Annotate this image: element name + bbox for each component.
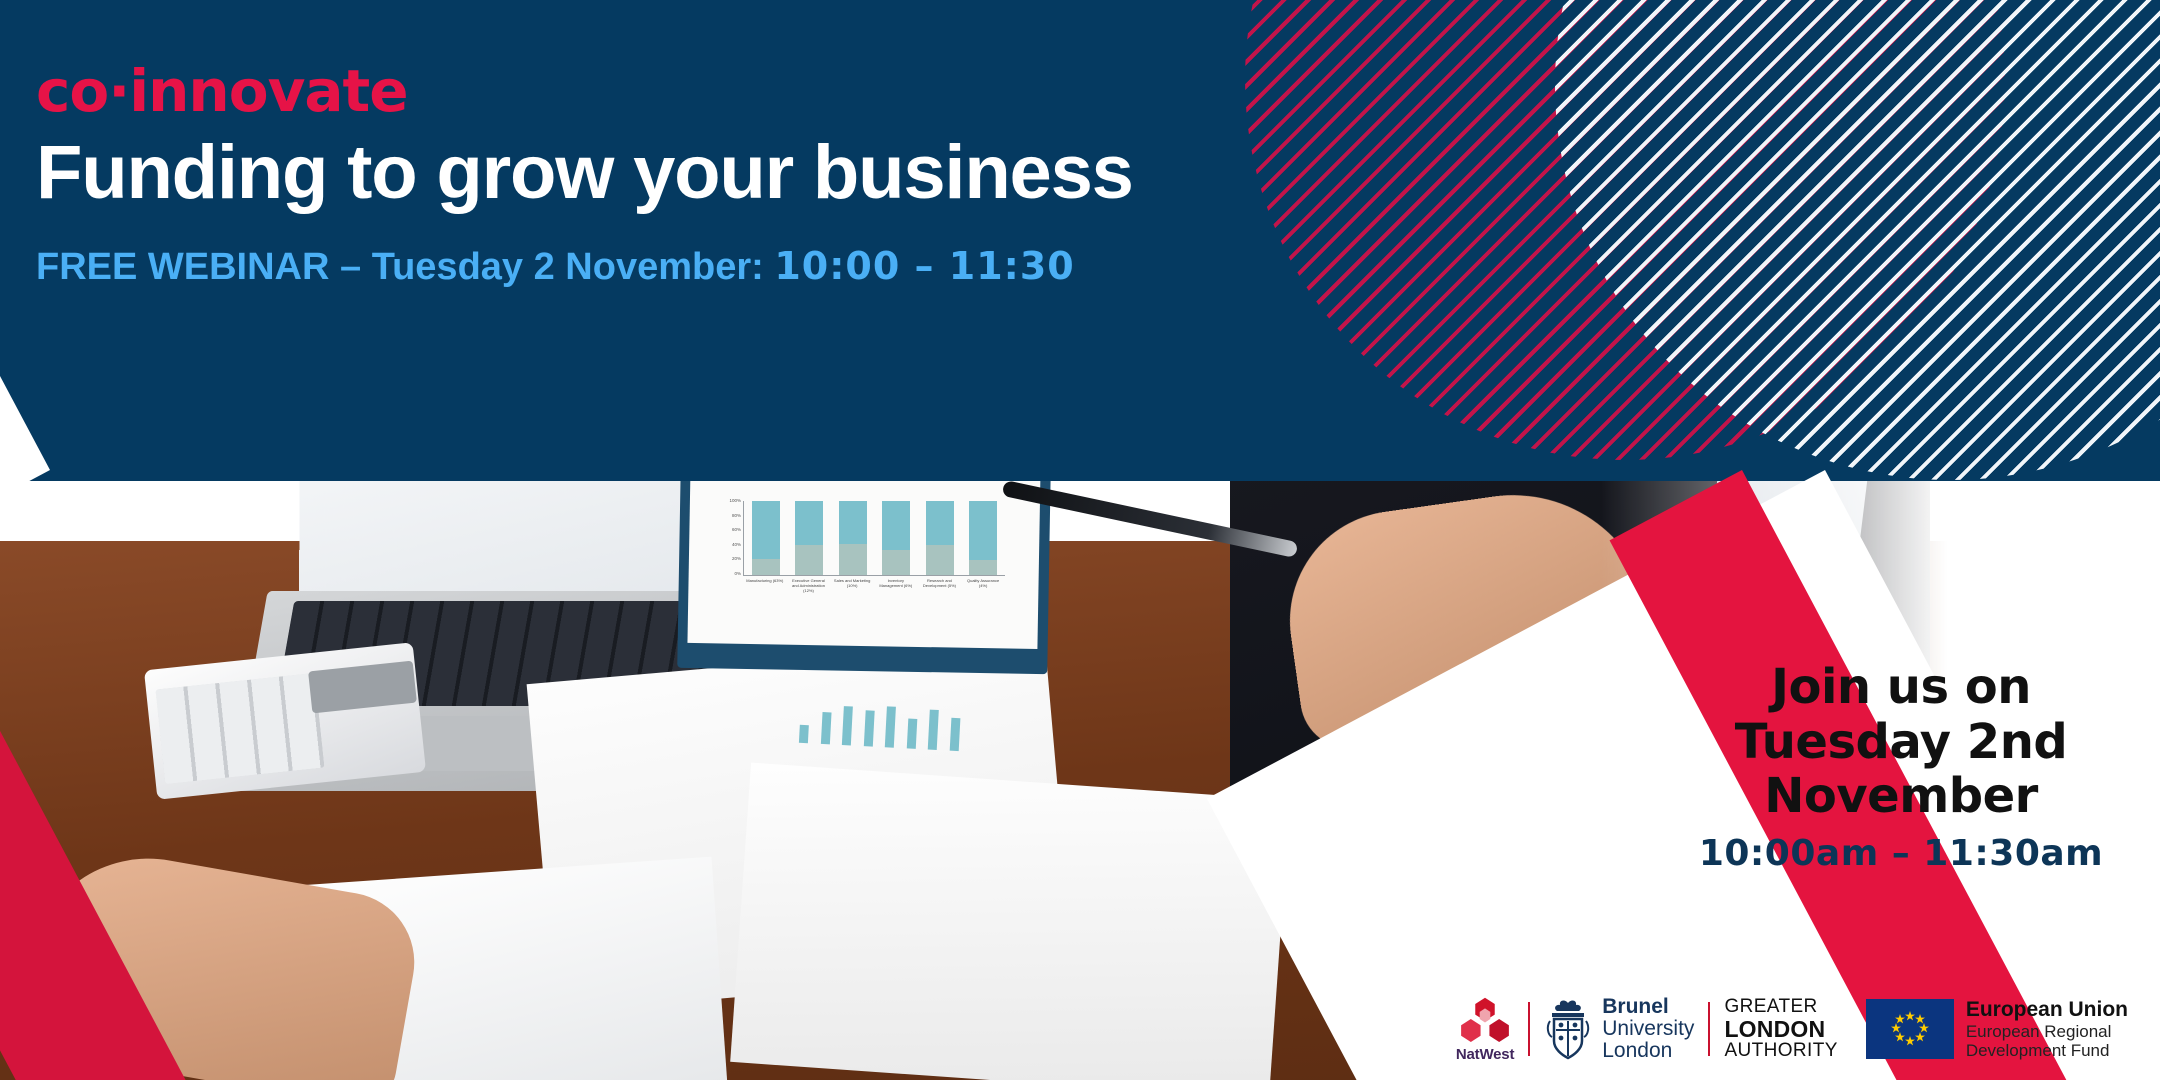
report-chart-bar xyxy=(926,501,954,575)
join-us-heading: Join us on Tuesday 2nd November xyxy=(1666,660,2136,824)
event-info-panel: Join us on Tuesday 2nd November 10:00am … xyxy=(1666,660,2136,874)
paper-chart-bar xyxy=(799,724,809,743)
partner-logo-bar: NatWest Brunel University London xyxy=(1442,986,2142,1072)
natwest-mark-icon xyxy=(1458,996,1512,1042)
gla-name: GREATER LONDON AUTHORITY xyxy=(1724,997,1837,1062)
greater-london-authority-logo: GREATER LONDON AUTHORITY xyxy=(1710,991,1851,1067)
brunel-name: Brunel University London xyxy=(1602,996,1694,1061)
report-chart-bar xyxy=(969,501,997,575)
x-tick: Inventory Management (6%) xyxy=(876,578,916,593)
brunel-line-3: London xyxy=(1602,1040,1694,1062)
report-chart-bar xyxy=(839,501,867,575)
calculator-keypad xyxy=(155,673,324,784)
paper-chart-bar xyxy=(885,706,896,748)
report-chart-plot xyxy=(743,501,1005,576)
report-chart-x-axis: Manufacturing (63%) Executive General an… xyxy=(743,578,1005,593)
natwest-logo: NatWest xyxy=(1442,991,1528,1067)
bar-segment-lower xyxy=(795,545,823,575)
bar-segment-upper xyxy=(926,501,954,545)
natwest-label: NatWest xyxy=(1456,1046,1514,1063)
bar-segment-upper xyxy=(839,501,867,544)
brunel-logo: Brunel University London xyxy=(1530,991,1708,1067)
y-tick: 100% xyxy=(715,498,741,503)
eu-name: European Union European Regional Develop… xyxy=(1966,998,2128,1061)
brunel-line-2: University xyxy=(1602,1018,1694,1040)
gla-line-3: AUTHORITY xyxy=(1724,1041,1837,1061)
webinar-subtitle: FREE WEBINAR – Tuesday 2 November: 10:00… xyxy=(36,246,1133,289)
european-union-logo: European Union European Regional Develop… xyxy=(1852,991,2142,1067)
y-tick: 80% xyxy=(715,513,741,518)
paper-chart-bar xyxy=(820,712,831,745)
co-innovate-logo: co·innovate xyxy=(36,62,1133,120)
x-tick: Manufacturing (63%) xyxy=(745,578,785,593)
bar-segment-lower xyxy=(752,559,780,575)
eu-flag-icon xyxy=(1866,999,1954,1059)
bar-segment-lower xyxy=(839,544,867,575)
webinar-promo-banner: co·innovate Funding to grow your busines… xyxy=(0,0,2160,1080)
webinar-subtitle-time: 10:00 – 11:30 xyxy=(774,244,1074,288)
eu-line-3: Development Fund xyxy=(1966,1041,2128,1060)
x-tick: Sales and Marketing (10%) xyxy=(832,578,872,593)
report-chart-y-axis: 100% 80% 60% 40% 20% 0% xyxy=(715,498,741,576)
eu-line-1: European Union xyxy=(1966,998,2128,1022)
eu-line-2: European Regional xyxy=(1966,1022,2128,1041)
session-time: 10:00am – 11:30am xyxy=(1666,834,2136,874)
eu-stars xyxy=(1866,999,1954,1059)
paper-chart-bar xyxy=(864,710,875,746)
gla-line-1: GREATER xyxy=(1724,997,1837,1017)
y-tick: 20% xyxy=(715,556,741,561)
header-text-block: co·innovate Funding to grow your busines… xyxy=(36,62,1133,288)
bar-segment-lower xyxy=(969,560,997,575)
y-tick: 40% xyxy=(715,542,741,547)
report-chart-bar xyxy=(752,501,780,575)
webinar-subtitle-prefix: FREE WEBINAR – Tuesday 2 November: xyxy=(36,246,774,288)
gla-line-2: LONDON xyxy=(1724,1017,1837,1041)
loose-paper-lower xyxy=(730,763,1290,1080)
bar-segment-upper xyxy=(969,501,997,560)
y-tick: 0% xyxy=(715,571,741,576)
x-tick: Quality Assurance (4%) xyxy=(963,578,1003,593)
small-bar-chart-on-paper xyxy=(799,697,961,751)
bar-segment-lower xyxy=(882,550,910,575)
x-tick: Executive General and Administration (12… xyxy=(788,578,828,593)
paper-chart-bar xyxy=(950,718,961,752)
y-tick: 60% xyxy=(715,527,741,532)
page-title: Funding to grow your business xyxy=(36,134,1133,212)
bar-segment-lower xyxy=(926,545,954,575)
report-bar-chart: 100% 80% 60% 40% 20% 0% Manufacturing (6… xyxy=(715,501,1005,601)
report-chart-bar xyxy=(795,501,823,575)
x-tick: Research and Development (5%) xyxy=(919,578,959,593)
report-chart-bar xyxy=(882,501,910,575)
paper-chart-bar xyxy=(907,719,918,749)
brunel-crest-icon xyxy=(1544,997,1592,1061)
brunel-line-1: Brunel xyxy=(1602,996,1694,1018)
paper-chart-bar xyxy=(928,709,939,750)
bar-segment-upper xyxy=(752,501,780,559)
bar-segment-upper xyxy=(882,501,910,550)
bar-segment-upper xyxy=(795,501,823,545)
paper-chart-bar xyxy=(842,706,853,746)
